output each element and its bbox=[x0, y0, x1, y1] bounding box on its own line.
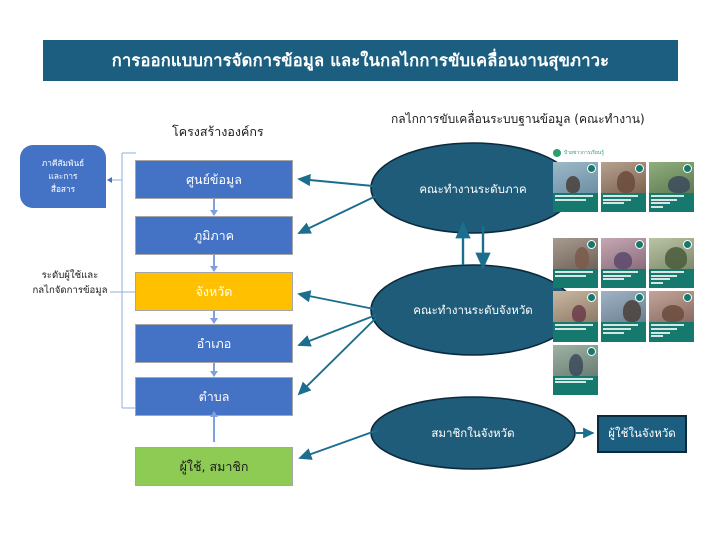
user-level-label: ระดับผู้ใช้และ กลไกจัดการข้อมูล bbox=[18, 268, 122, 299]
photo-caption bbox=[649, 269, 694, 288]
play-badge-icon bbox=[635, 240, 644, 249]
callout-line-1: ภาคีสัมพันธ์ bbox=[42, 157, 84, 170]
ellipse-label-province-workgroup: คณะทำงานระดับจังหวัด bbox=[371, 302, 575, 320]
photo-caption bbox=[649, 193, 694, 212]
photo-thumbnail bbox=[553, 162, 598, 193]
org-box-users-members[interactable]: ผู้ใช้, สมาชิก bbox=[135, 447, 293, 486]
callout-line-3: สื่อสาร bbox=[51, 183, 75, 196]
connector-data-center-to-region bbox=[213, 199, 215, 211]
org-box-province[interactable]: จังหวัด bbox=[135, 272, 293, 311]
org-structure-heading: โครงสร้างองค์กร bbox=[172, 122, 264, 142]
photo-card bbox=[649, 291, 694, 341]
connector-province-to-district bbox=[213, 311, 215, 319]
ellipse-label-region-workgroup: คณะทำงานระดับภาค bbox=[371, 181, 575, 199]
photo-card bbox=[601, 238, 646, 288]
org-box-district[interactable]: อำเภอ bbox=[135, 324, 293, 363]
org-box-label: ผู้ใช้, สมาชิก bbox=[180, 457, 249, 477]
photo-caption bbox=[553, 376, 598, 395]
user-level-label-line-2: กลไกจัดการข้อมูล bbox=[18, 283, 122, 298]
photo-thumbnail bbox=[553, 345, 598, 376]
photo-thumbnail bbox=[649, 162, 694, 193]
mechanism-heading: กลไกการขับเคลื่อนระบบฐานข้อมูล (คณะทำงาน… bbox=[391, 110, 645, 129]
photo-collage-region: ป้ายข่าวการเรียนรู้ bbox=[553, 147, 695, 212]
play-badge-icon bbox=[587, 347, 596, 356]
ellipse-link-arrows bbox=[463, 224, 483, 267]
collage-brand-header: ป้ายข่าวการเรียนรู้ bbox=[553, 147, 695, 158]
photo-card bbox=[601, 162, 646, 212]
play-badge-icon bbox=[587, 240, 596, 249]
page-title: การออกแบบการจัดการข้อมูล และในกลไกการขับ… bbox=[112, 48, 609, 74]
org-box-label: อำเภอ bbox=[197, 334, 232, 354]
play-badge-icon bbox=[635, 164, 644, 173]
photo-thumbnail bbox=[601, 291, 646, 322]
photo-caption bbox=[649, 322, 694, 341]
photo-caption bbox=[553, 193, 598, 212]
photo-caption bbox=[553, 269, 598, 288]
photo-caption bbox=[553, 322, 598, 341]
arrows-from-province-workgroup bbox=[299, 294, 376, 394]
org-box-data-center[interactable]: ศูนย์ข้อมูล bbox=[135, 160, 293, 199]
arrow-from-members-to-users bbox=[300, 430, 378, 458]
connector-users-to-subdistrict bbox=[213, 416, 215, 442]
org-box-label: ภูมิภาค bbox=[194, 226, 234, 246]
org-box-label: ตำบล bbox=[199, 387, 230, 407]
photo-caption bbox=[601, 193, 646, 212]
photo-thumbnail bbox=[649, 291, 694, 322]
callout-arrow-head bbox=[107, 177, 112, 183]
org-box-label: จังหวัด bbox=[196, 282, 233, 302]
org-box-label: ศูนย์ข้อมูล bbox=[186, 170, 242, 190]
province-users-label: ผู้ใช้ในจังหวัด bbox=[608, 425, 676, 443]
photo-card bbox=[553, 345, 598, 395]
photo-thumbnail bbox=[649, 238, 694, 269]
photo-card bbox=[553, 291, 598, 341]
partner-communication-callout: ภาคีสัมพันธ์ และการ สื่อสาร bbox=[20, 145, 106, 208]
play-badge-icon bbox=[587, 164, 596, 173]
user-level-label-line-1: ระดับผู้ใช้และ bbox=[18, 268, 122, 283]
left-bracket-lower bbox=[110, 292, 136, 408]
play-badge-icon bbox=[683, 240, 692, 249]
brand-logo-icon bbox=[553, 149, 561, 157]
org-box-region[interactable]: ภูมิภาค bbox=[135, 216, 293, 255]
photo-caption bbox=[601, 269, 646, 288]
photo-thumbnail bbox=[553, 238, 598, 269]
slide-title-bar: การออกแบบการจัดการข้อมูล และในกลไกการขับ… bbox=[43, 40, 678, 81]
photo-card bbox=[553, 162, 598, 212]
ellipse-label-province-members: สมาชิกในจังหวัด bbox=[371, 425, 575, 443]
photo-card bbox=[649, 162, 694, 212]
connector-district-to-subdistrict bbox=[213, 363, 215, 372]
photo-card bbox=[601, 291, 646, 341]
slide-canvas: การออกแบบการจัดการข้อมูล และในกลไกการขับ… bbox=[0, 0, 720, 540]
photo-card bbox=[553, 238, 598, 288]
photo-thumbnail bbox=[601, 238, 646, 269]
play-badge-icon bbox=[683, 164, 692, 173]
photo-collage-province bbox=[553, 238, 695, 395]
photo-card bbox=[649, 238, 694, 288]
connector-region-to-province bbox=[213, 255, 215, 267]
photo-caption bbox=[601, 322, 646, 341]
photo-thumbnail bbox=[601, 162, 646, 193]
callout-line-2: และการ bbox=[48, 170, 77, 183]
arrows-from-region-workgroup bbox=[299, 179, 376, 233]
photo-thumbnail bbox=[553, 291, 598, 322]
province-users-box[interactable]: ผู้ใช้ในจังหวัด bbox=[597, 415, 687, 453]
collage-brand-text: ป้ายข่าวการเรียนรู้ bbox=[564, 149, 604, 157]
